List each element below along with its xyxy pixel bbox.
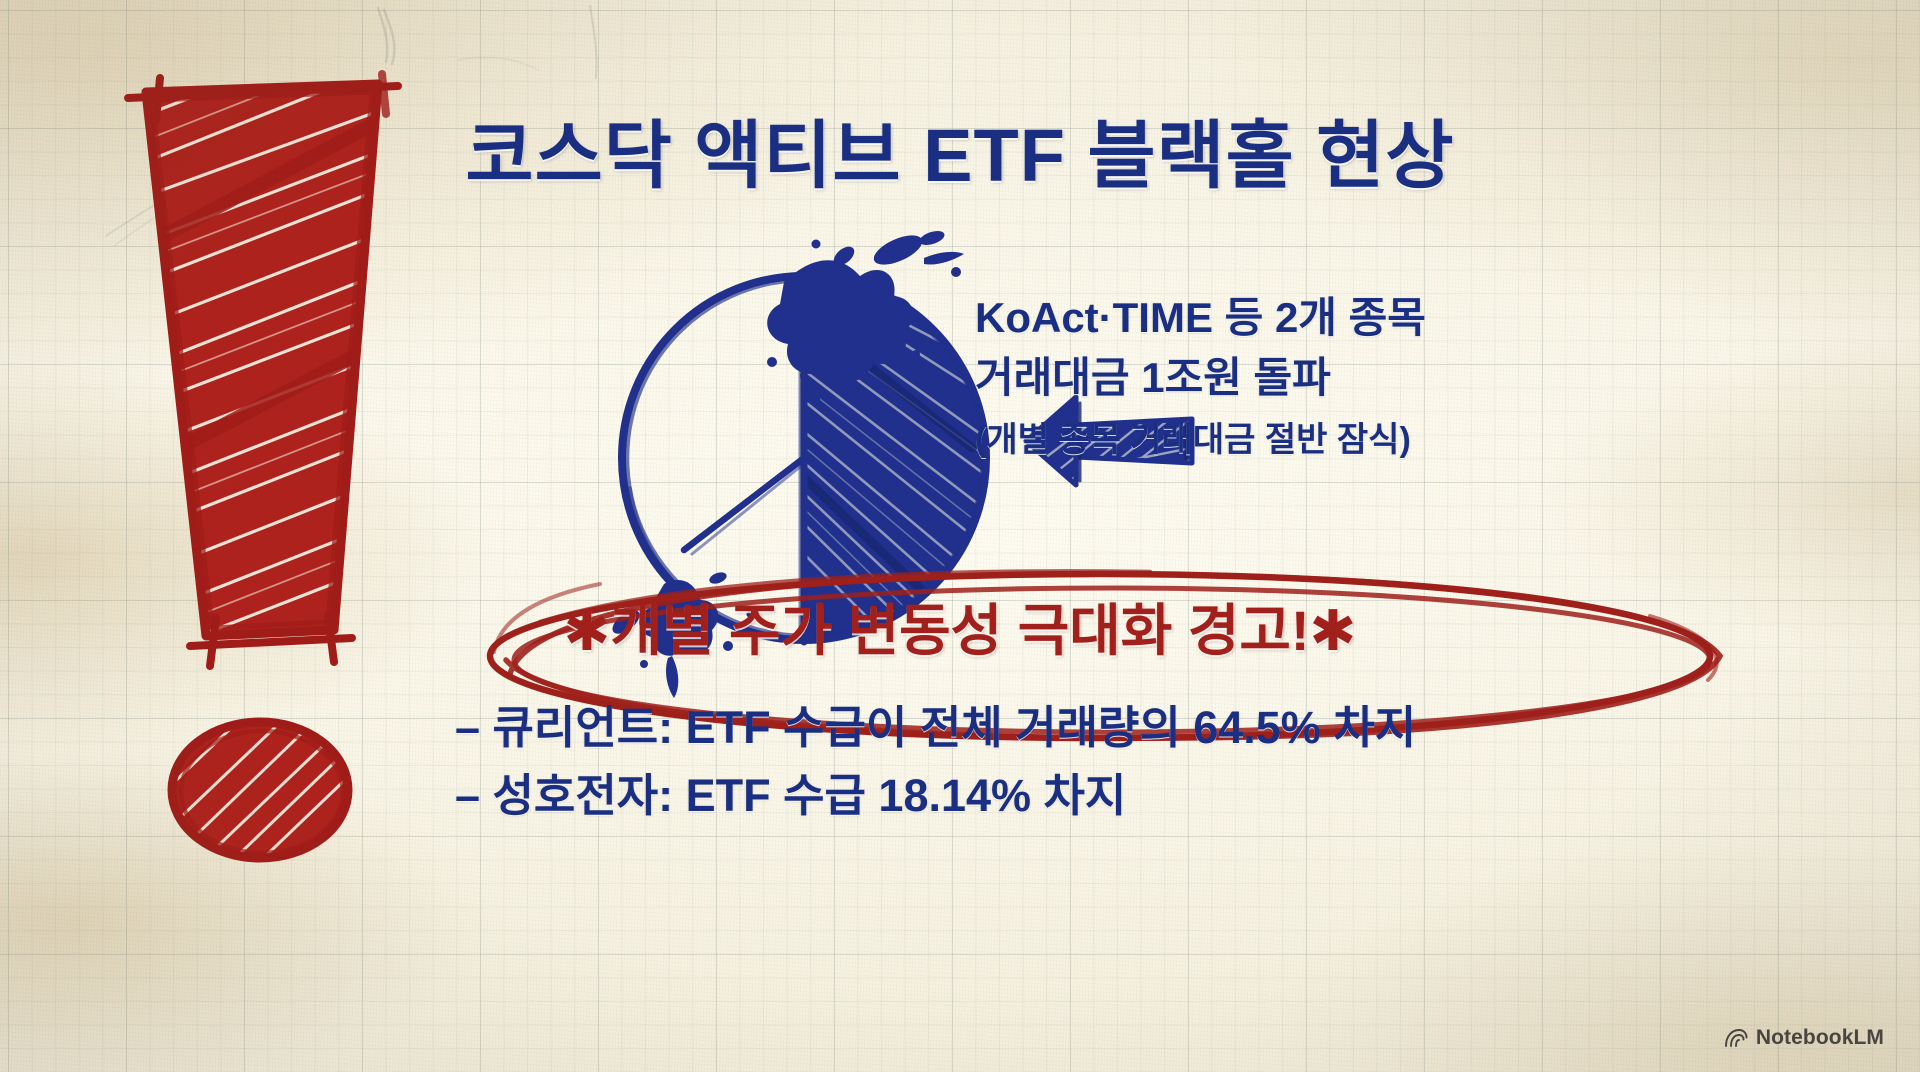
list-item: – 성호전자: ETF 수급 18.14% 차지: [455, 762, 1575, 830]
side-note-line-2: 거래대금 1조원 돌파: [975, 348, 1515, 408]
side-note-line-1: KoAct·TIME 등 2개 종목: [975, 288, 1515, 348]
infographic-canvas: 코스닥 액티브 ETF 블랙홀 현상: [0, 0, 1920, 1072]
list-item: – 큐리언트: ETF 수급이 전체 거래량의 64.5% 차지: [455, 694, 1575, 762]
warning-label: ✱개별 주가 변동성 극대화 경고!✱: [0, 586, 1920, 667]
notebooklm-label: NotebookLM: [1756, 1026, 1884, 1050]
notebooklm-watermark: NotebookLM: [1724, 1026, 1884, 1050]
side-note-line-3: (개별 종목 거래대금 절반 잠식): [975, 415, 1515, 466]
page-title: 코스닥 액티브 ETF 블랙홀 현상: [0, 96, 1920, 203]
bullet-list: – 큐리언트: ETF 수급이 전체 거래량의 64.5% 차지 – 성호전자:…: [455, 694, 1575, 831]
notebooklm-spiral-icon: [1724, 1027, 1748, 1049]
side-note-block: KoAct·TIME 등 2개 종목 거래대금 1조원 돌파 (개별 종목 거래…: [975, 288, 1515, 466]
